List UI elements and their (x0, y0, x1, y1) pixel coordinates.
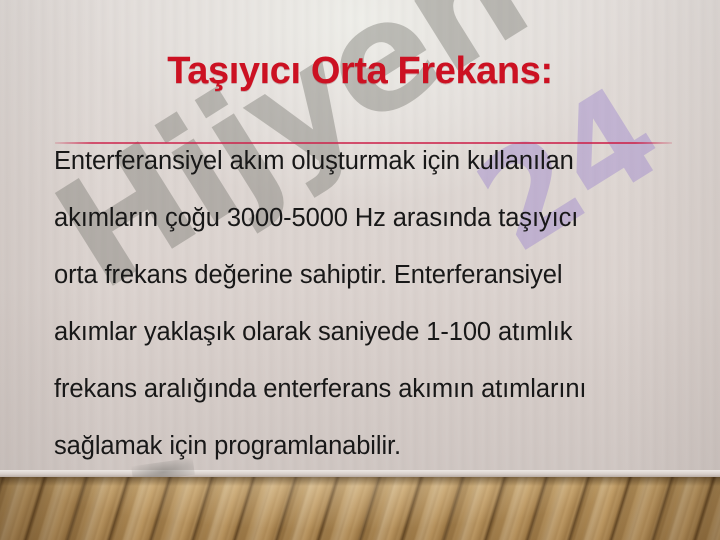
floor-top-shadow (0, 477, 720, 486)
floor-shading (0, 477, 720, 540)
body-text-block: Enterferansiyel akım oluşturmak için kul… (54, 133, 674, 475)
body-line: akımlar yaklaşık olarak saniyede 1-100 a… (54, 304, 674, 361)
body-line: orta frekans değerine sahiptir. Enterfer… (54, 247, 674, 304)
presentation-slide: Hijyen 24 Taşıyıcı Orta Frekans: Enterfe… (0, 0, 720, 540)
wooden-floor (0, 477, 720, 540)
body-line: akımların çoğu 3000-5000 Hz arasında taş… (54, 190, 674, 247)
slide-content: Taşıyıcı Orta Frekans: Enterferansiyel a… (0, 0, 720, 477)
page-title: Taşıyıcı Orta Frekans: (0, 50, 720, 93)
floor-baseboard (0, 470, 720, 477)
body-line: frekans aralığında enterferans akımın at… (54, 361, 674, 418)
body-line: Enterferansiyel akım oluşturmak için kul… (54, 133, 674, 190)
